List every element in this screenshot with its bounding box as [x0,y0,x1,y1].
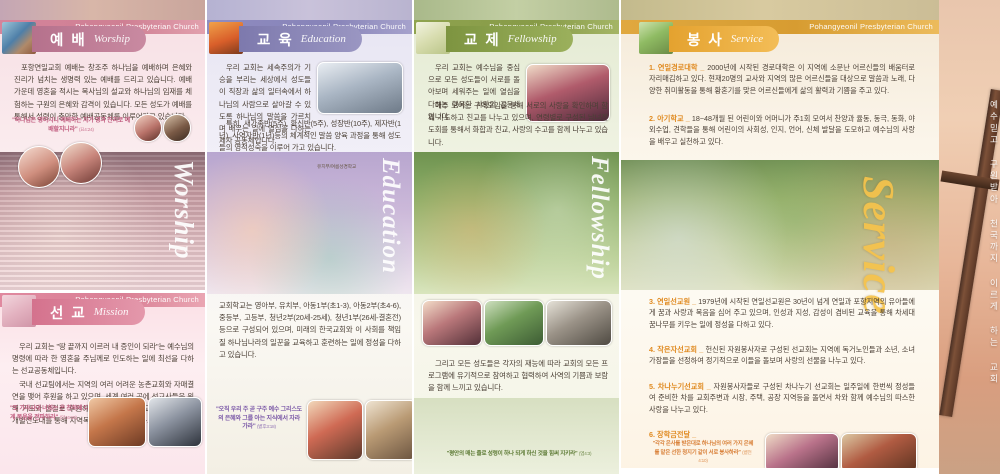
service-verse-text: "각각 은사를 받은대로 하나님의 여러 가지 은혜를 맡은 선한 청지기 같이… [653,441,754,456]
tab-mission-label-kr: 선 교 [50,302,87,323]
panel-fellowship: Pohangyeonil Presbyterian Church 교 제 Fel… [414,0,619,474]
service-item-4-name: 작은자선교회 [657,345,697,354]
tab-fellowship[interactable]: 교 제 Fellowship [446,26,573,52]
tab-mission-label-en: Mission [94,306,129,318]
panel-service: Pohangyeonil Presbyterian Church 봉 사 Ser… [621,0,939,474]
service-vertical-word: Service [853,176,904,315]
brochure-page: Pohangyeonil Presbyterian Church 예 배 Wor… [0,0,1000,474]
service-item-6-num: 6. [649,430,655,439]
service-item-4: 4. 작은자선교회 _ 헌신된 자원봉사자로 구성된 선교회는 지역에 독거노인… [649,344,915,367]
service-item-5-name: 차나누기선교회 [658,382,704,391]
service-volunteers-photo [765,433,839,473]
fellowship-paragraph-3: 그리고 모든 성도들은 각자의 재능에 따라 교회의 모든 프로그램에 유기적으… [428,358,608,395]
panel-mission: Pohangyeonil Presbyterian Church 선 교 Mis… [0,293,205,474]
fellowship-walking-photo [546,300,612,346]
fellowship-verse-text: "평안의 매는 줄로 성령이 하나 되게 하신 것을 힘써 지키라" [447,451,578,457]
education-photo-caption: 유치부/여름성경학교 [317,163,356,170]
tab-education-label-kr: 교 육 [257,29,294,50]
education-verse: "오직 우리 주 곧 구주 예수 그리스도의 은혜와 그를 아는 지식에서 자라… [215,406,303,432]
service-item-2-name: 아기학교 [657,114,683,123]
service-item-5-sep: _ [707,382,711,391]
brand-text-service: Pohangyeonil Presbyterian Church [809,20,933,34]
tab-fellowship-label-en: Fellowship [508,33,557,45]
worship-verse: "하나님은 영이시니 예배하는 자가 영과 진리로 예배할지니라" (요4:24… [10,117,132,134]
fellowship-top-photo-band [414,0,619,20]
service-item-2-sep: _ [686,114,690,123]
service-item-5-num: 5. [649,382,655,391]
fellowship-verse-ref: (엡4:3) [579,451,591,456]
fellowship-hanbok-photo [422,300,482,346]
service-item-1-sep: _ [700,63,704,72]
fold-gap-mission [0,290,205,293]
worship-body-text: 포항연일교회 예배는 창조주 하나님을 예배하며 은혜와 진리가 넘치는 생명력… [14,62,192,124]
autumn-tree-icon [209,22,243,54]
mission-paragraph-1: 우리 교회는 "땅 끝까지 이르러 내 증인이 되라"는 예수님의 명령에 따라… [12,341,194,378]
service-item-6-name: 장학금전달 [657,430,690,439]
tab-fellowship-label-kr: 교 제 [464,29,501,50]
worship-verse-text: "하나님은 영이시니 예배하는 자가 영과 진리로 예배할지니라" [12,118,130,133]
service-item-3: 3. 연일선교원 _ 1979년에 시작된 연일선교원은 30년이 넘게 연일과… [649,296,915,330]
worship-top-photo-band [0,0,205,20]
side-cross-strip: 예수믿고 구원받아 천국까지 이르게 하는 교회 [939,0,1000,474]
education-top-photo-band [207,0,412,20]
fellowship-soccer-photo [484,300,544,346]
service-item-3-name: 연일선교원 [657,297,690,306]
education-classroom-photo [365,400,412,460]
worship-prayer-photo [163,114,191,142]
tab-education[interactable]: 교 육 Education [239,26,362,52]
service-verse: "각각 은사를 받은대로 하나님의 여러 가지 은혜를 맡은 선한 청지기 같이… [651,441,755,466]
service-item-6-sep: _ [692,430,696,439]
worship-paragraph-1: 포항연일교회 예배는 창조주 하나님을 예배하며 은혜와 진리가 넘치는 생명력… [14,62,192,123]
education-verse-ref: (벧후3:18) [257,424,276,429]
worship-congregation-photo [18,146,60,188]
panel-education: Pohangyeonil Presbyterian Church 교 육 Edu… [207,0,412,474]
service-item-5: 5. 차나누기선교회 _ 자원봉사자들로 구성된 차나누기 선교회는 일주일에 … [649,381,915,415]
education-paragraph-2: 특히, 새가족반(5주), 확신반(5주), 성장반(10주), 제자반(1년)… [219,118,401,155]
fold-gap-2 [412,0,414,474]
service-item-2: 2. 아기학교 _ 18~48개월 된 어린이와 어머니가 주1회 모여서 찬양… [649,113,915,147]
side-strip-text: 예수믿고 구원받아 천국까지 이르게 하는 교회 [939,20,1000,466]
service-bottom-edge [621,468,939,474]
service-item-1-name: 연일경로대학 [658,63,698,72]
tab-service-label-kr: 봉 사 [687,29,724,50]
service-top-photo-band [621,0,939,20]
worship-vertical-word: Worship [168,160,199,260]
service-item-3-sep: _ [692,297,696,306]
fellowship-faded-photo-band [414,398,619,474]
fellowship-vertical-word: Fellowship [585,156,613,280]
stained-glass-icon [2,22,36,54]
mission-verse-ref: (막16:15) [60,415,77,420]
tab-service-label-en: Service [731,33,763,45]
service-outdoor-seniors-photo [841,433,917,473]
fellowship-verse: "평안의 매는 줄로 성령이 하나 되게 하신 것을 힘써 지키라" (엡4:3… [424,450,614,459]
sprout-icon [639,22,673,54]
education-children-study-photo [307,400,363,460]
fellowship-body-text-3: 그리고 모든 성도들은 각자의 재능에 따라 교회의 모든 프로그램에 유기적으… [428,358,608,396]
fellowship-body-text-2: 매주 모이는 구역모임을 통해 서로의 사랑을 확인하며 함께 기도하고 친교를… [428,100,608,150]
education-vertical-word: Education [376,158,404,274]
service-item-1: 1. 연일경로대학 _ 2000년에 시작된 경로대학은 이 지역에 소문난 어… [649,62,915,96]
education-body-text-2: 특히, 새가족반(5주), 확신반(5주), 성장반(10주), 제자반(1년)… [219,118,401,156]
education-meeting-room-photo [317,62,403,114]
mission-pastor-soldier-photo [148,397,202,447]
tab-worship[interactable]: 예 배 Worship [32,26,146,52]
service-item-2-num: 2. [649,114,655,123]
tab-worship-label-kr: 예 배 [50,29,87,50]
worship-choir-photo [60,142,102,184]
fold-gap-3 [619,0,621,474]
service-item-1-num: 1. [649,63,655,72]
worship-singer-photo [134,114,162,142]
white-blossom-icon [416,22,450,54]
education-paragraph-3: 교회학교는 영아부, 유치부, 아동1부(초1-3), 아동2부(초4-6), … [219,300,401,361]
tab-mission[interactable]: 선 교 Mission [32,299,145,325]
dove-icon [2,295,36,327]
education-body-text-3: 교회학교는 영아부, 유치부, 아동1부(초1-3), 아동2부(초4-6), … [219,300,401,362]
service-item-4-sep: _ [699,345,703,354]
tab-service[interactable]: 봉 사 Service [669,26,779,52]
service-item-3-num: 3. [649,297,655,306]
fellowship-paragraph-2: 매주 모이는 구역모임을 통해 서로의 사랑을 확인하며 함께 기도하고 친교를… [428,100,608,149]
tab-education-label-en: Education [301,33,346,45]
tab-worship-label-en: Worship [94,33,130,45]
mission-overseas-crowd-photo [88,397,146,447]
service-item-4-num: 4. [649,345,655,354]
fold-gap-1 [205,0,207,474]
